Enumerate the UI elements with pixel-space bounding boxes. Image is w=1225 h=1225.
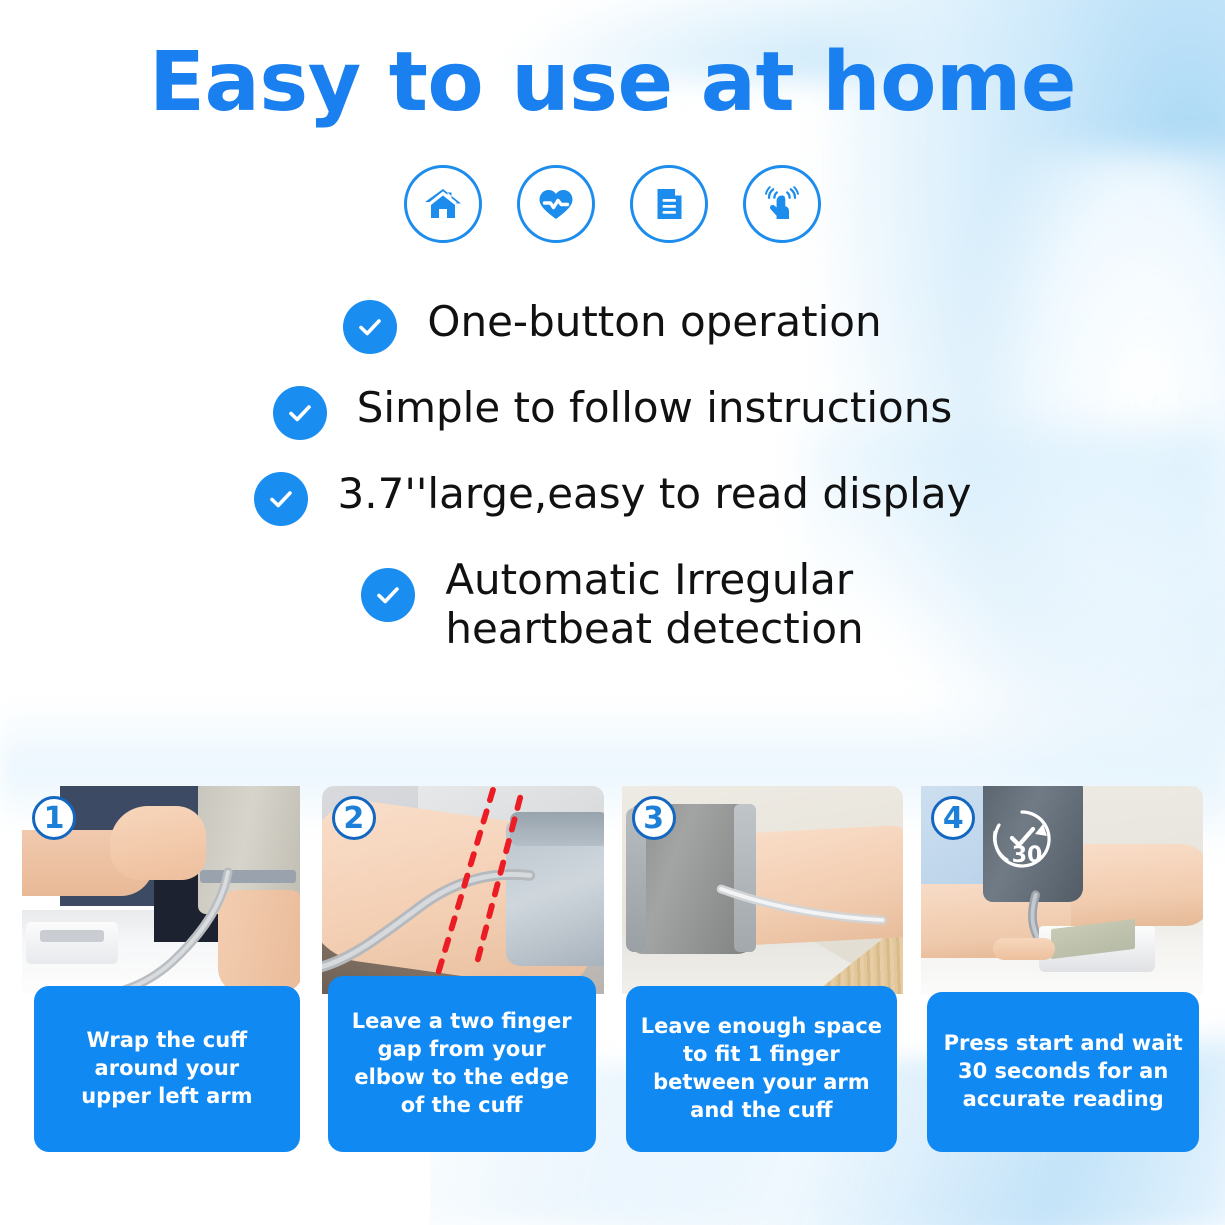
page-title: Easy to use at home (0, 42, 1225, 124)
step-number-badge: 1 (32, 796, 76, 840)
step-caption: Press start and wait 30 seconds for an a… (927, 992, 1199, 1152)
feature-item: Simple to follow instructions (273, 384, 952, 440)
feature-label: Simple to follow instructions (357, 384, 952, 431)
step-card: 1 Wrap the cuff around your upper left a… (22, 786, 304, 1156)
step-number-badge: 4 (931, 796, 975, 840)
feature-item: One-button operation (343, 298, 881, 354)
home-icon (404, 165, 482, 243)
timer-30-overlay-icon: 30 (983, 800, 1061, 878)
check-icon (254, 472, 308, 526)
step-caption: Leave a two finger gap from your elbow t… (328, 976, 596, 1152)
feature-item: 3.7''large,easy to read display (254, 470, 972, 526)
step-card: 30 4 Press start and wait 30 seconds for… (921, 786, 1203, 1156)
check-icon (361, 568, 415, 622)
step-card-row: 1 Wrap the cuff around your upper left a… (22, 786, 1203, 1156)
feature-item: Automatic Irregular heartbeat detection (361, 556, 863, 653)
check-icon (343, 300, 397, 354)
step-number-badge: 3 (632, 796, 676, 840)
infographic-root: Easy to use at home (0, 0, 1225, 1225)
feature-icon-row (0, 165, 1225, 243)
feature-label: Automatic Irregular heartbeat detection (445, 556, 863, 653)
step-card: 2 Leave a two finger gap from your elbow… (322, 786, 604, 1156)
step-caption: Leave enough space to fit 1 finger betwe… (626, 986, 898, 1152)
feature-label: 3.7''large,easy to read display (338, 470, 972, 517)
document-icon (630, 165, 708, 243)
check-icon (273, 386, 327, 440)
timer-seconds-label: 30 (1012, 843, 1043, 868)
feature-label: One-button operation (427, 298, 881, 345)
step-number-badge: 2 (332, 796, 376, 840)
step-card: 3 Leave enough space to fit 1 finger bet… (622, 786, 904, 1156)
step-caption: Wrap the cuff around your upper left arm (34, 986, 300, 1152)
heart-pulse-icon (517, 165, 595, 243)
tap-gesture-icon (743, 165, 821, 243)
feature-list: One-button operation Simple to follow in… (0, 298, 1225, 653)
